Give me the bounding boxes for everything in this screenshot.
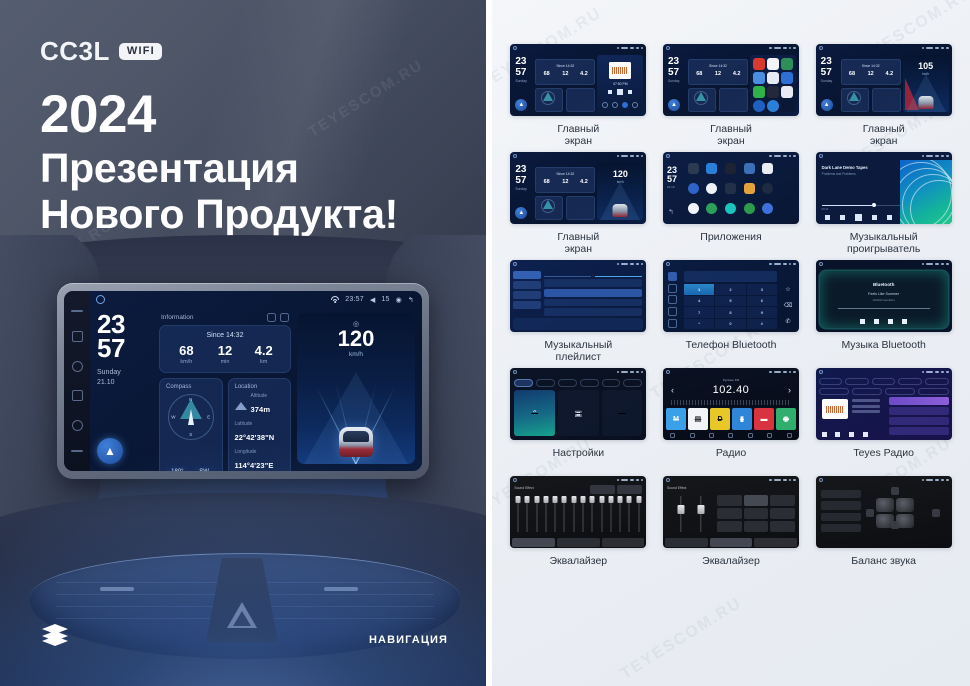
settings-tabs[interactable] bbox=[514, 379, 642, 387]
power-key-icon[interactable] bbox=[72, 361, 83, 372]
compass-direction: SW bbox=[193, 466, 216, 471]
thumbnail-caption: Приложения bbox=[700, 231, 761, 256]
app-item bbox=[778, 163, 795, 180]
compass-values: 180° SW bbox=[166, 466, 216, 471]
preset: D bbox=[710, 408, 730, 430]
teyes-filters[interactable] bbox=[819, 388, 949, 395]
contacts-icon bbox=[668, 284, 677, 293]
station-meta bbox=[852, 399, 880, 416]
dialpad-icon bbox=[668, 272, 677, 281]
preset-buttons[interactable] bbox=[590, 485, 642, 494]
compass-heading: 180° bbox=[166, 466, 189, 471]
app-icon bbox=[767, 86, 779, 98]
grid-item[interactable]: Teyes Радио bbox=[811, 368, 956, 472]
wifi-tile: ⌃ bbox=[514, 390, 555, 436]
clock-column: 23 57 Sunday 21.10 ▲ bbox=[97, 313, 153, 464]
longitude-label: Longitude bbox=[235, 449, 285, 455]
information-since: Since 14:32 bbox=[167, 332, 283, 339]
thumbnail-radio[interactable]: Русское FM ‹ 102.40 › M ▤ D ▮ ▬ ◉ bbox=[663, 368, 799, 440]
thumbnail-playlist[interactable] bbox=[510, 260, 646, 332]
grid-item[interactable]: ⌃ ▣ ⋯ Настройки bbox=[506, 368, 651, 472]
key: 4 bbox=[684, 296, 714, 307]
phone-actions[interactable]: ☆⌫✆ bbox=[780, 282, 796, 329]
grid-item[interactable]: 123 456 789 *0# ☆⌫✆ Телефон Bluetooth bbox=[659, 260, 804, 364]
clock-day: Sunday bbox=[97, 368, 153, 377]
grid-item[interactable]: 23 57 Sunday Since 14:32 68124.2 ▲ Главн… bbox=[659, 44, 804, 148]
balance-sliders[interactable] bbox=[671, 496, 711, 532]
app-item bbox=[760, 203, 777, 220]
back-icon[interactable]: ↰ bbox=[668, 208, 674, 216]
search-icon bbox=[690, 433, 695, 438]
album-art bbox=[609, 62, 631, 79]
preset: ▮ bbox=[732, 408, 752, 430]
key: * bbox=[684, 319, 714, 330]
call-icon: ✆ bbox=[785, 318, 790, 325]
bt-track: Feels Like Summer bbox=[816, 292, 952, 296]
thumb-clock: 23 bbox=[668, 57, 679, 66]
now-playing-bar[interactable] bbox=[513, 318, 643, 330]
thumbnail-caption: Главныйэкран bbox=[710, 123, 752, 148]
app-item bbox=[704, 183, 721, 200]
number-field[interactable] bbox=[684, 271, 777, 282]
compass-w: W bbox=[171, 415, 175, 420]
altitude-row: Altitude 374m bbox=[235, 393, 285, 417]
thumbnail-grid: 23 57 Sunday Since 14:32 68124.2 ▲ 07:50… bbox=[506, 44, 956, 580]
drive-view-widget[interactable]: ◎ 120 km/h bbox=[297, 313, 415, 464]
thumbnail-caption: Главныйэкран bbox=[863, 123, 905, 148]
app-item bbox=[760, 183, 777, 200]
home-screen-body: 23 57 Sunday 21.10 ▲ Information bbox=[90, 308, 422, 471]
headline: 2024 Презентация Нового Продукта! bbox=[40, 88, 460, 238]
arrow-left-icon[interactable] bbox=[866, 509, 874, 517]
chevron-right-icon[interactable]: › bbox=[788, 385, 791, 395]
preset: ◉ bbox=[776, 408, 796, 430]
thumb-clock-min: 57 bbox=[515, 68, 526, 77]
thumbnail-home-apps[interactable]: 23 57 Sunday Since 14:32 68124.2 ▲ bbox=[663, 44, 799, 116]
headline-line-2: Нового Продукта! bbox=[40, 192, 460, 238]
backspace-icon: ⌫ bbox=[784, 302, 792, 309]
thumb-nav-icon: ▲ bbox=[515, 99, 527, 111]
eq-icon bbox=[728, 433, 733, 438]
home-key-icon[interactable] bbox=[72, 331, 83, 342]
status-clock: 23:57 bbox=[345, 296, 364, 303]
app-item bbox=[704, 203, 721, 220]
longitude-block: Longitude 114°4'23"E bbox=[235, 449, 285, 471]
thumbnail-caption: Музыкальныйпроигрыватель bbox=[847, 231, 920, 256]
equalizer-footer-tabs[interactable] bbox=[665, 538, 797, 547]
widget-column: Information Since 14:32 68 km/h bbox=[159, 313, 291, 464]
thumb-day: Sunday bbox=[668, 79, 680, 84]
track-title: Dark Lane Demo Tapes bbox=[822, 165, 894, 170]
mountain-icon bbox=[235, 401, 247, 410]
app-item bbox=[685, 163, 702, 180]
stat-item: 12 min bbox=[206, 344, 245, 365]
thumb-speed: 105 bbox=[903, 61, 949, 71]
grid-item[interactable]: Русское FM ‹ 102.40 › M ▤ D ▮ ▬ ◉ Ради bbox=[659, 368, 804, 472]
app-icon bbox=[753, 72, 765, 84]
thumb-clock: 23 bbox=[667, 166, 677, 174]
thumb-stat: 68 bbox=[690, 71, 709, 77]
thumb-clock-min: 57 bbox=[668, 68, 679, 77]
app-icon bbox=[781, 72, 793, 84]
preset: ▤ bbox=[688, 408, 708, 430]
thumbnail-music-player[interactable]: Dark Lane Demo Tapes Problems and Proble… bbox=[816, 152, 952, 224]
key: 2 bbox=[715, 284, 745, 295]
grid-item[interactable]: 23 57 21.10 ↰ bbox=[659, 152, 804, 256]
information-header: Information bbox=[159, 313, 291, 325]
repeat-icon bbox=[887, 215, 892, 220]
app-item bbox=[741, 183, 758, 200]
product-logo: CC3L WIFI bbox=[40, 36, 162, 67]
latitude-block: Latitude 22°42'38"N bbox=[235, 421, 285, 445]
preset: M bbox=[666, 408, 686, 430]
visualizer bbox=[900, 160, 952, 224]
grid-item[interactable]: 23 57 Sunday Since 14:32 68124.2 ▲ 105 k… bbox=[811, 44, 956, 148]
key: 6 bbox=[747, 296, 777, 307]
thumb-day: Sunday bbox=[515, 79, 527, 84]
thumbnail-sound-balance[interactable] bbox=[816, 476, 952, 548]
key: 0 bbox=[715, 319, 745, 330]
status-bar: 23:57 ◀ 15 ◉ ↰ bbox=[90, 291, 422, 308]
thumb-since: Since 14:32 bbox=[841, 64, 901, 68]
thumbnail-bt-music[interactable]: Bluetooth Feels Like Summer Childish Gam… bbox=[816, 260, 952, 332]
player-controls[interactable] bbox=[820, 214, 898, 221]
screenshot-grid-panel: TEYESCOM.RU TEYESCOM.RU TEYESCOM.RU TEYE… bbox=[492, 0, 970, 686]
back-key-icon[interactable] bbox=[71, 450, 83, 452]
thumbnail-caption: Эквалайзер bbox=[550, 555, 608, 580]
stop-icon bbox=[835, 432, 840, 437]
apps-pane bbox=[750, 55, 796, 112]
hero-panel: TEYESCOM.RU TEYESCOM.RU TEYESCOM.RU CC3L… bbox=[0, 0, 486, 686]
app-item bbox=[704, 163, 721, 180]
tuning-scale[interactable] bbox=[671, 400, 791, 405]
thumb-stat: 4.2 bbox=[575, 71, 594, 77]
stat-value: 4.2 bbox=[244, 344, 283, 357]
radio-presets[interactable]: M ▤ D ▮ ▬ ◉ bbox=[666, 408, 796, 430]
back-icon[interactable]: ↰ bbox=[408, 296, 414, 304]
thumb-day: Sunday bbox=[821, 79, 833, 84]
app-item bbox=[685, 203, 702, 220]
grid-item[interactable]: Баланс звука bbox=[811, 476, 956, 580]
car-3d-model bbox=[339, 427, 373, 457]
information-card: Since 14:32 68 km/h 12 min bbox=[159, 325, 291, 373]
call-log-icon bbox=[668, 307, 677, 316]
wifi-icon bbox=[331, 296, 339, 303]
equalizer-sliders[interactable] bbox=[514, 496, 642, 532]
thumb-stat: 12 bbox=[861, 71, 880, 77]
radio-toolbar[interactable] bbox=[663, 431, 799, 439]
player-controls[interactable] bbox=[822, 432, 868, 437]
latitude-label: Latitude bbox=[235, 421, 285, 427]
thumbnail-home-drive[interactable]: 23 57 Sunday Since 14:32 68124.2 ▲ 105 k… bbox=[816, 44, 952, 116]
thumbnail-caption: Настройки bbox=[553, 447, 605, 472]
information-stats: 68 km/h 12 min 4.2 km bbox=[167, 344, 283, 365]
head-unit-screen[interactable]: 23:57 ◀ 15 ◉ ↰ 23 57 Sunday 21.10 ▲ bbox=[64, 291, 422, 471]
app-icon bbox=[781, 58, 793, 70]
altitude-value: 374m bbox=[251, 405, 271, 414]
drive-pane: 105 km/h bbox=[903, 55, 949, 112]
pause-icon bbox=[855, 214, 862, 221]
app-item bbox=[778, 183, 795, 200]
speed-unit: km/h bbox=[297, 351, 415, 358]
thumb-clock: 23 bbox=[821, 57, 832, 66]
stat-unit: km bbox=[244, 359, 283, 365]
thumbnail-caption: Баланс звука bbox=[851, 555, 916, 580]
stop-icon bbox=[888, 319, 893, 324]
thumb-stat: 4.2 bbox=[727, 71, 746, 77]
menu-key-icon[interactable] bbox=[71, 310, 83, 312]
thumbnail-home-drive-2[interactable]: 23 57 Sunday Since 14:32 68124.2 ▲ 120 k… bbox=[510, 152, 646, 224]
camera-icon[interactable]: ◉ bbox=[396, 296, 402, 304]
key: # bbox=[747, 319, 777, 330]
key: 7 bbox=[684, 307, 714, 318]
thumbnail-caption: Музыкальныйплейлист bbox=[544, 339, 612, 364]
album-art bbox=[822, 399, 848, 419]
thumb-date: 21.10 bbox=[667, 185, 675, 189]
head-unit-bezel: 23:57 ◀ 15 ◉ ↰ 23 57 Sunday 21.10 ▲ bbox=[57, 283, 429, 479]
key: 9 bbox=[747, 307, 777, 318]
previous-icon bbox=[840, 215, 845, 220]
thumb-clock: 23 bbox=[515, 165, 526, 174]
thumbnail-teyes-radio[interactable] bbox=[816, 368, 952, 440]
thumbnail-equalizer-2[interactable]: Sound Effect bbox=[663, 476, 799, 548]
grid-item[interactable]: 23 57 Sunday Since 14:32 68124.2 ▲ 120 k… bbox=[506, 152, 651, 256]
thumb-speed: 120 bbox=[597, 169, 643, 179]
thumbnail-settings[interactable]: ⌃ ▣ ⋯ bbox=[510, 368, 646, 440]
thumb-stat: 12 bbox=[556, 179, 575, 185]
thumb-since: Since 14:32 bbox=[535, 172, 595, 176]
grid-item[interactable]: Sound Effect Эквалайзер bbox=[506, 476, 651, 580]
app-icon bbox=[767, 58, 779, 70]
bluetooth-title: Bluetooth bbox=[816, 282, 952, 287]
previous-icon bbox=[860, 319, 865, 324]
playlist-rows[interactable] bbox=[544, 279, 642, 316]
location-title: Location bbox=[235, 384, 285, 390]
equalizer-header: Sound Effect bbox=[514, 486, 533, 490]
key: 8 bbox=[715, 307, 745, 318]
app-icon bbox=[753, 100, 765, 112]
car-3d-model bbox=[918, 96, 933, 109]
stat-value: 68 bbox=[167, 344, 206, 357]
app-icon bbox=[753, 86, 765, 98]
grid-item[interactable]: Музыкальныйплейлист bbox=[506, 260, 651, 364]
compass-e: E bbox=[207, 415, 210, 420]
arrow-up-icon[interactable] bbox=[891, 487, 899, 495]
navigation-label: НАВИГАЦИЯ bbox=[369, 634, 448, 646]
app-item bbox=[778, 203, 795, 220]
thumb-clock-min: 57 bbox=[515, 176, 526, 185]
arrow-down-icon[interactable] bbox=[891, 521, 899, 529]
compass-needle-icon bbox=[188, 409, 194, 425]
thumbnail-caption: Teyes Радио bbox=[853, 447, 914, 472]
next-icon bbox=[872, 215, 877, 220]
key: 1 bbox=[684, 284, 714, 295]
preset-keys[interactable] bbox=[717, 495, 795, 532]
stat-unit: min bbox=[206, 359, 245, 365]
dial-pad[interactable]: 123 456 789 *0# bbox=[684, 284, 777, 329]
carplay-tile: ▣ bbox=[558, 390, 599, 436]
more-icon: ⋯ bbox=[618, 409, 626, 418]
location-widget[interactable]: Location Altitude 374m Latitude bbox=[228, 378, 292, 471]
home-icon[interactable] bbox=[96, 295, 105, 304]
navigation-arrow-icon[interactable]: ▲ bbox=[97, 438, 123, 464]
wifi-badge: WIFI bbox=[119, 43, 162, 60]
bt-artist: Childish Gambino bbox=[816, 298, 952, 302]
headline-year: 2024 bbox=[40, 88, 460, 142]
thumb-clock-min: 57 bbox=[667, 175, 677, 183]
app-icon bbox=[781, 100, 793, 112]
watermark: TEYESCOM.RU bbox=[618, 594, 746, 683]
stat-item: 4.2 km bbox=[244, 344, 283, 365]
expand-icon[interactable] bbox=[280, 313, 289, 322]
media-pane: 07:50 PM bbox=[597, 55, 643, 112]
stat-unit: km/h bbox=[167, 359, 206, 365]
settings-tiles[interactable]: ⌃ ▣ ⋯ bbox=[514, 390, 642, 436]
settings-icon bbox=[668, 319, 677, 328]
information-widget[interactable]: Information Since 14:32 68 km/h bbox=[159, 313, 291, 373]
track-artist: Problems and Problems bbox=[822, 172, 894, 176]
previous-icon bbox=[822, 432, 827, 437]
speed-value: 120 bbox=[297, 328, 415, 350]
app-item bbox=[760, 163, 777, 180]
speed-display: ◎ 120 km/h bbox=[297, 320, 415, 358]
car-3d-model bbox=[613, 204, 628, 217]
thumbnail-equalizer[interactable]: Sound Effect bbox=[510, 476, 646, 548]
stat-value: 12 bbox=[206, 344, 245, 357]
search-icon bbox=[668, 295, 677, 304]
apps-grid bbox=[685, 163, 795, 220]
thumb-stat: 68 bbox=[537, 71, 556, 77]
radio-band: Русское FM bbox=[663, 378, 799, 382]
thumbnail-caption: Телефон Bluetooth bbox=[686, 339, 777, 364]
favorite-icon bbox=[863, 432, 868, 437]
radio-frequency: 102.40 bbox=[663, 384, 799, 396]
thumbnail-apps[interactable]: 23 57 21.10 ↰ bbox=[663, 152, 799, 224]
equalizer-header: Sound Effect bbox=[667, 486, 686, 490]
power-icon bbox=[767, 433, 772, 438]
thumb-nav-icon: ▲ bbox=[668, 99, 680, 111]
equalizer-footer-tabs[interactable] bbox=[512, 538, 644, 547]
list-icon bbox=[709, 433, 714, 438]
information-title: Information bbox=[161, 314, 263, 321]
phone-sidebar[interactable] bbox=[666, 271, 680, 329]
grid-item[interactable]: Dark Lane Demo Tapes Problems and Proble… bbox=[811, 152, 956, 256]
compass-title: Compass bbox=[166, 384, 216, 390]
hero-footer: НАВИГАЦИЯ bbox=[0, 590, 486, 686]
app-icon bbox=[753, 58, 765, 70]
thumb-since: Since 14:32 bbox=[688, 64, 748, 68]
bt-controls[interactable] bbox=[816, 319, 952, 324]
app-item bbox=[722, 183, 739, 200]
thumb-day: Sunday bbox=[515, 187, 527, 192]
app-item bbox=[685, 183, 702, 200]
status-volume-value: 15 bbox=[381, 296, 389, 303]
app-item bbox=[722, 203, 739, 220]
settings-gear-icon[interactable] bbox=[267, 313, 276, 322]
key: 5 bbox=[715, 296, 745, 307]
bt-progress-bar[interactable] bbox=[838, 308, 930, 309]
thumb-stat: 4.2 bbox=[575, 179, 594, 185]
teyes-tabs[interactable] bbox=[819, 378, 949, 385]
home-icon bbox=[670, 433, 675, 438]
stat-item: 68 km/h bbox=[167, 344, 206, 365]
altitude-label: Altitude bbox=[251, 393, 271, 399]
layers-icon bbox=[42, 624, 68, 644]
drive-pane: 120 km/h bbox=[597, 163, 643, 220]
carplay-icon: ▣ bbox=[575, 409, 583, 418]
wifi-icon: ⌃ bbox=[531, 409, 538, 418]
apps-key-icon[interactable] bbox=[72, 390, 83, 401]
thumb-stat: 68 bbox=[843, 71, 862, 77]
thumbnail-caption: Главныйэкран bbox=[557, 123, 599, 148]
grid-item[interactable]: Bluetooth Feels Like Summer Childish Gam… bbox=[811, 260, 956, 364]
star-icon: ☆ bbox=[785, 286, 790, 293]
settings-icon bbox=[787, 433, 792, 438]
station-list[interactable] bbox=[889, 397, 949, 437]
thumb-nav-icon: ▲ bbox=[821, 99, 833, 111]
arrow-right-icon[interactable] bbox=[932, 509, 940, 517]
thumb-clock: 23 bbox=[515, 57, 526, 66]
clock-date: 21.10 bbox=[97, 378, 153, 387]
band-icon bbox=[748, 433, 753, 438]
thumbnail-bt-phone[interactable]: 123 456 789 *0# ☆⌫✆ bbox=[663, 260, 799, 332]
app-item bbox=[722, 163, 739, 180]
thumb-since: Since 14:32 bbox=[535, 64, 595, 68]
app-icon bbox=[767, 72, 779, 84]
thumb-stat: 4.2 bbox=[880, 71, 899, 77]
preset: ▬ bbox=[754, 408, 774, 430]
compass-dial: N E S W bbox=[168, 394, 214, 440]
app-item bbox=[741, 203, 758, 220]
volume-key-icon[interactable] bbox=[72, 420, 83, 431]
key: 3 bbox=[747, 284, 777, 295]
longitude-value: 114°4'23"E bbox=[235, 461, 274, 470]
thumbnail-home-media[interactable]: 23 57 Sunday Since 14:32 68124.2 ▲ 07:50… bbox=[510, 44, 646, 116]
thumbnail-caption: Эквалайзер bbox=[702, 555, 760, 580]
widget-row-2: Compass N E S W 180° bbox=[159, 378, 291, 471]
thumb-stat: 12 bbox=[709, 71, 728, 77]
balance-presets[interactable] bbox=[821, 490, 861, 532]
grid-item[interactable]: Sound Effect Эквалайзер bbox=[659, 476, 804, 580]
thumbnail-caption: Музыка Bluetooth bbox=[841, 339, 925, 364]
volume-icon[interactable]: ◀ bbox=[370, 296, 376, 304]
thumb-clock-min: 57 bbox=[821, 68, 832, 77]
thumb-stat: 12 bbox=[556, 71, 575, 77]
next-icon bbox=[849, 432, 854, 437]
grid-item[interactable]: 23 57 Sunday Since 14:32 68124.2 ▲ 07:50… bbox=[506, 44, 651, 148]
next-icon bbox=[902, 319, 907, 324]
side-key-strip[interactable] bbox=[64, 291, 90, 471]
media-time: 07:50 PM bbox=[597, 82, 643, 86]
play-pause-icon bbox=[874, 319, 879, 324]
compass-widget[interactable]: Compass N E S W 180° bbox=[159, 378, 223, 471]
latitude-value: 22°42'38"N bbox=[235, 433, 275, 442]
playlist-sidebar[interactable] bbox=[513, 271, 541, 316]
shuffle-icon bbox=[825, 215, 830, 220]
headline-line-1: Презентация bbox=[40, 146, 460, 192]
thumb-nav-icon: ▲ bbox=[515, 207, 527, 219]
compass-s: S bbox=[189, 432, 192, 437]
thumbnail-caption: Главныйэкран bbox=[557, 231, 599, 256]
playlist-tabs[interactable] bbox=[544, 270, 642, 277]
app-icon bbox=[781, 86, 793, 98]
app-icon bbox=[767, 100, 779, 112]
thumbnail-caption: Радио bbox=[716, 447, 746, 472]
logo-text: CC3L bbox=[40, 36, 110, 67]
clock-minutes: 57 bbox=[97, 337, 153, 361]
thumb-stat: 68 bbox=[537, 179, 556, 185]
more-tile: ⋯ bbox=[602, 390, 643, 436]
